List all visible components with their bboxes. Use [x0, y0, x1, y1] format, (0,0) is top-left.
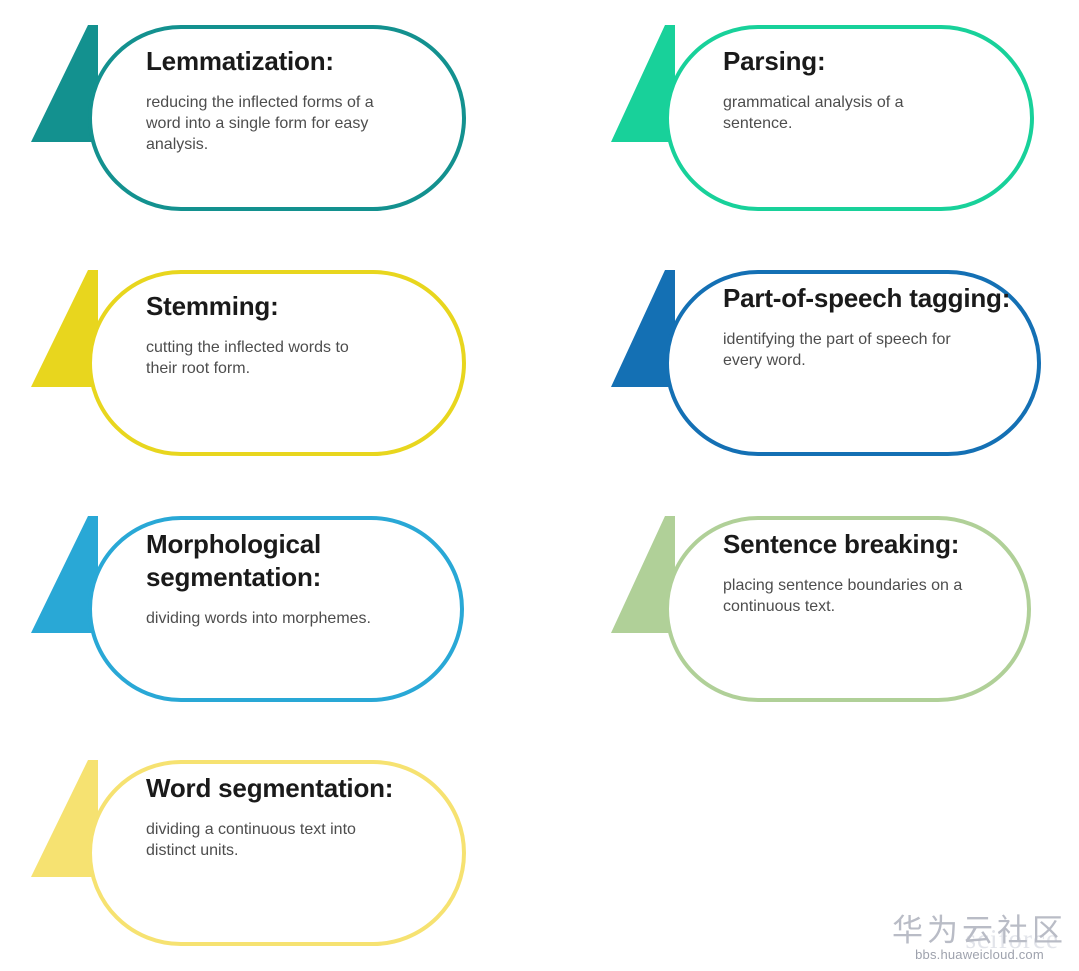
card-text-parsing: Parsing:grammatical analysis of a senten…: [723, 45, 1014, 134]
card-description-morphological-segmentation: dividing words into morphemes.: [146, 608, 386, 629]
bubble-card-sentence-breaking: Sentence breaking:placing sentence bound…: [665, 516, 1031, 702]
bubble-tail-lemmatization: [31, 25, 96, 150]
card-text-part-of-speech-tagging: Part-of-speech tagging:identifying the p…: [723, 282, 1021, 371]
card-description-word-segmentation: dividing a continuous text into distinct…: [146, 819, 396, 861]
card-text-lemmatization: Lemmatization:reducing the inflected for…: [146, 45, 446, 155]
card-description-sentence-breaking: placing sentence boundaries on a continu…: [723, 575, 983, 617]
card-description-lemmatization: reducing the inflected forms of a word i…: [146, 92, 396, 155]
bubble-tail-sentence-breaking: [611, 516, 673, 641]
bubble-card-morphological-segmentation: Morphological segmentation:dividing word…: [88, 516, 464, 702]
card-text-stemming: Stemming:cutting the inflected words to …: [146, 290, 446, 379]
bubble-tail-stemming: [31, 270, 96, 395]
card-title-parsing: Parsing:: [723, 45, 1014, 78]
card-title-stemming: Stemming:: [146, 290, 446, 323]
card-title-morphological-segmentation: Morphological segmentation:: [146, 528, 444, 594]
bubble-card-lemmatization: Lemmatization:reducing the inflected for…: [88, 25, 466, 211]
card-description-part-of-speech-tagging: identifying the part of speech for every…: [723, 329, 968, 371]
card-title-word-segmentation: Word segmentation:: [146, 772, 446, 805]
card-description-parsing: grammatical analysis of a sentence.: [723, 92, 973, 134]
card-text-sentence-breaking: Sentence breaking:placing sentence bound…: [723, 528, 1011, 617]
bubble-tail-morphological-segmentation: [31, 516, 96, 641]
watermark: sciforce 华为云社区 bbs.huaweicloud.com: [892, 914, 1067, 963]
bubble-tail-word-segmentation: [31, 760, 96, 885]
card-title-sentence-breaking: Sentence breaking:: [723, 528, 1011, 561]
bubble-tail-parsing: [611, 25, 673, 150]
bubble-card-stemming: Stemming:cutting the inflected words to …: [88, 270, 466, 456]
watermark-url: bbs.huaweicloud.com: [892, 947, 1067, 963]
card-title-lemmatization: Lemmatization:: [146, 45, 446, 78]
bubble-card-part-of-speech-tagging: Part-of-speech tagging:identifying the p…: [665, 270, 1041, 456]
watermark-chinese-text: 华为云社区: [892, 914, 1067, 950]
bubble-card-word-segmentation: Word segmentation:dividing a continuous …: [88, 760, 466, 946]
card-title-part-of-speech-tagging: Part-of-speech tagging:: [723, 282, 1021, 315]
infographic-canvas: Lemmatization:reducing the inflected for…: [0, 0, 1079, 971]
card-text-morphological-segmentation: Morphological segmentation:dividing word…: [146, 528, 444, 629]
card-text-word-segmentation: Word segmentation:dividing a continuous …: [146, 772, 446, 861]
card-description-stemming: cutting the inflected words to their roo…: [146, 337, 376, 379]
bubble-card-parsing: Parsing:grammatical analysis of a senten…: [665, 25, 1034, 211]
bubble-tail-part-of-speech-tagging: [611, 270, 673, 395]
